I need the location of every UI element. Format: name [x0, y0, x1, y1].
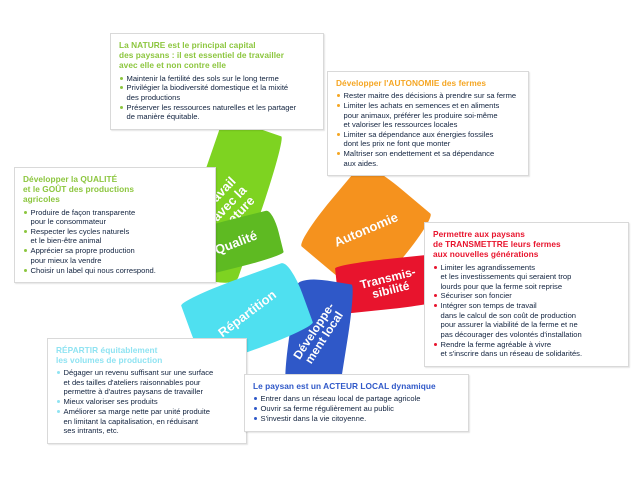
bullet-item: Produire de façon transparentepour le co…: [23, 208, 207, 227]
bullet-item: Limiter sa dépendance aux énergies fossi…: [336, 130, 520, 149]
bullet-item: S'investir dans la vie citoyenne.: [253, 414, 460, 424]
bullet-marker-icon: [57, 410, 60, 413]
bullet-item: Rendre la ferme agréable à vivreet s'ins…: [433, 340, 620, 359]
bullet-item: Sécuriser son foncier: [433, 291, 620, 301]
bullet-item: Maîtriser son endettement et sa dépendan…: [336, 149, 520, 168]
bullet-marker-icon: [120, 77, 123, 80]
bullet-marker-icon: [337, 104, 340, 107]
bullet-item: Apprécier sa propre productionpour mieux…: [23, 246, 207, 265]
bullet-marker-icon: [120, 86, 123, 89]
bullet-marker-icon: [57, 400, 60, 403]
panel-nature-heading: La NATURE est le principal capitaldes pa…: [119, 40, 315, 71]
bullet-item: Dégager un revenu suffisant sur une surf…: [56, 368, 238, 397]
panel-developpement-local: Le paysan est un ACTEUR LOCAL dynamique …: [244, 374, 469, 432]
panel-developpement-local-list: Entrer dans un réseau local de partage a…: [253, 394, 460, 423]
panel-repartition-list: Dégager un revenu suffisant sur une surf…: [56, 368, 238, 435]
panel-nature: La NATURE est le principal capitaldes pa…: [110, 33, 324, 130]
bullet-marker-icon: [120, 106, 123, 109]
bullet-marker-icon: [434, 343, 437, 346]
bullet-item: Entrer dans un réseau local de partage a…: [253, 394, 460, 404]
panel-transmissibilite-heading: Permettre aux paysansde TRANSMETTRE leur…: [433, 229, 620, 260]
bullet-item: Ouvrir sa ferme régulièrement au public: [253, 404, 460, 414]
bullet-marker-icon: [24, 230, 27, 233]
bullet-item: Rester maitre des décisions à prendre su…: [336, 91, 520, 101]
bullet-marker-icon: [337, 152, 340, 155]
bullet-item: Maintenir la fertilité des sols sur le l…: [119, 74, 315, 84]
bullet-marker-icon: [254, 407, 257, 410]
panel-qualite: Développer la QUALITÉet le GOÛT des prod…: [14, 167, 216, 283]
bullet-marker-icon: [24, 269, 27, 272]
bullet-marker-icon: [337, 94, 340, 97]
bullet-item: Limiter les achats en semences et en ali…: [336, 101, 520, 130]
bullet-item: Choisir un label qui nous correspond.: [23, 266, 207, 276]
bullet-marker-icon: [254, 417, 257, 420]
bullet-item: Mieux valoriser ses produits: [56, 397, 238, 407]
bullet-marker-icon: [337, 133, 340, 136]
panel-nature-list: Maintenir la fertilité des sols sur le l…: [119, 74, 315, 122]
bullet-item: Améliorer sa marge nette par unité produ…: [56, 407, 238, 436]
bullet-marker-icon: [57, 371, 60, 374]
panel-qualite-heading: Développer la QUALITÉet le GOÛT des prod…: [23, 174, 207, 205]
panel-developpement-local-heading: Le paysan est un ACTEUR LOCAL dynamique: [253, 381, 460, 391]
bullet-item: Intégrer son temps de travaildans le cal…: [433, 301, 620, 339]
panel-transmissibilite: Permettre aux paysansde TRANSMETTRE leur…: [424, 222, 629, 367]
panel-autonomie: Développer l'AUTONOMIE des fermes Rester…: [327, 71, 529, 176]
panel-repartition: RÉPARTIR équitablementles volumes de pro…: [47, 338, 247, 444]
infographic-canvas: Travail avec la nature Qualité Autonomie…: [0, 0, 640, 477]
bullet-item: Respecter les cycles naturelset le bien-…: [23, 227, 207, 246]
bullet-marker-icon: [24, 211, 27, 214]
bullet-item: Limiter les agrandissementset les invest…: [433, 263, 620, 292]
panel-repartition-heading: RÉPARTIR équitablementles volumes de pro…: [56, 345, 238, 365]
bullet-item: Privilégier la biodiversité domestique e…: [119, 83, 315, 102]
bullet-marker-icon: [434, 294, 437, 297]
bullet-item: Préserver les ressources naturelles et l…: [119, 103, 315, 122]
panel-qualite-list: Produire de façon transparentepour le co…: [23, 208, 207, 275]
bullet-marker-icon: [434, 304, 437, 307]
bullet-marker-icon: [24, 249, 27, 252]
panel-autonomie-list: Rester maitre des décisions à prendre su…: [336, 91, 520, 168]
bullet-marker-icon: [254, 397, 257, 400]
bullet-marker-icon: [434, 266, 437, 269]
panel-autonomie-heading: Développer l'AUTONOMIE des fermes: [336, 78, 520, 88]
panel-transmissibilite-list: Limiter les agrandissementset les invest…: [433, 263, 620, 359]
